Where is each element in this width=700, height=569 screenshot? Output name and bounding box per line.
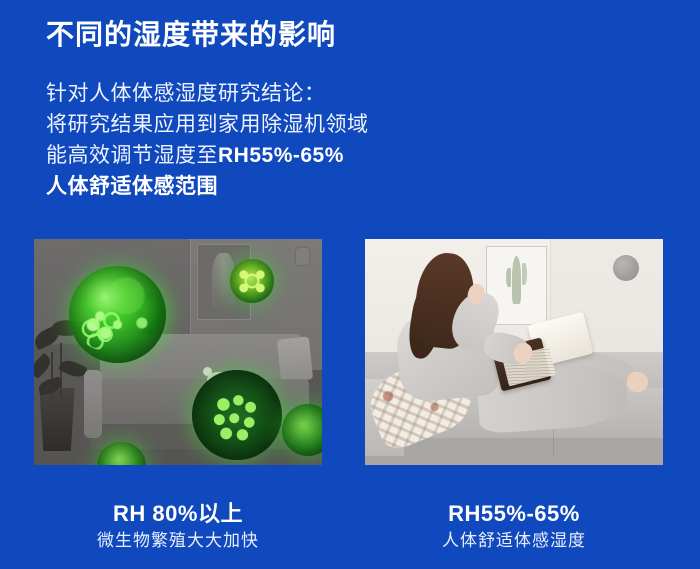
caption-title: RH 80%以上 — [34, 500, 322, 528]
body-line-3-prefix: 能高效调节湿度至 — [46, 144, 218, 167]
microbe-bottom-center — [192, 370, 281, 460]
caption-comfort-humidity: RH55%-65% 人体舒适体感湿度 — [365, 500, 663, 554]
caption-subtitle: 微生物繁殖大大加快 — [34, 528, 322, 554]
photo-high-humidity — [34, 239, 322, 465]
body-line-1: 针对人体体感湿度研究结论： — [46, 78, 369, 109]
wall-speaker — [613, 255, 639, 281]
caption-title: RH55%-65% — [365, 500, 663, 528]
body-line-4: 人体舒适体感范围 — [46, 171, 369, 202]
cactus-illustration — [512, 256, 522, 304]
humidity-infographic-poster: 不同的湿度带来的影响 针对人体体感湿度研究结论： 将研究结果应用到家用除湿机领域… — [0, 0, 700, 569]
body-line-2: 将研究结果应用到家用除湿机领域 — [46, 109, 369, 140]
plant-pot — [37, 388, 77, 451]
page-title: 不同的湿度带来的影响 — [46, 18, 336, 52]
body-copy: 针对人体体感湿度研究结论： 将研究结果应用到家用除湿机领域 能高效调节湿度至RH… — [46, 78, 369, 202]
body-line-3: 能高效调节湿度至RH55%-65% — [46, 140, 369, 171]
microbe-large-left — [69, 266, 167, 363]
plant-leaf — [58, 357, 87, 381]
sofa-arm — [84, 370, 101, 438]
light-room-scene — [365, 239, 663, 465]
dark-room-scene — [34, 239, 322, 465]
photo-comfort-humidity — [365, 239, 663, 465]
caption-subtitle: 人体舒适体感湿度 — [365, 528, 663, 554]
humidity-range-highlight: RH55%-65% — [218, 144, 344, 167]
sofa-cushion — [277, 337, 313, 383]
wall-switch — [296, 248, 309, 265]
caption-high-humidity: RH 80%以上 微生物繁殖大大加快 — [34, 500, 322, 554]
